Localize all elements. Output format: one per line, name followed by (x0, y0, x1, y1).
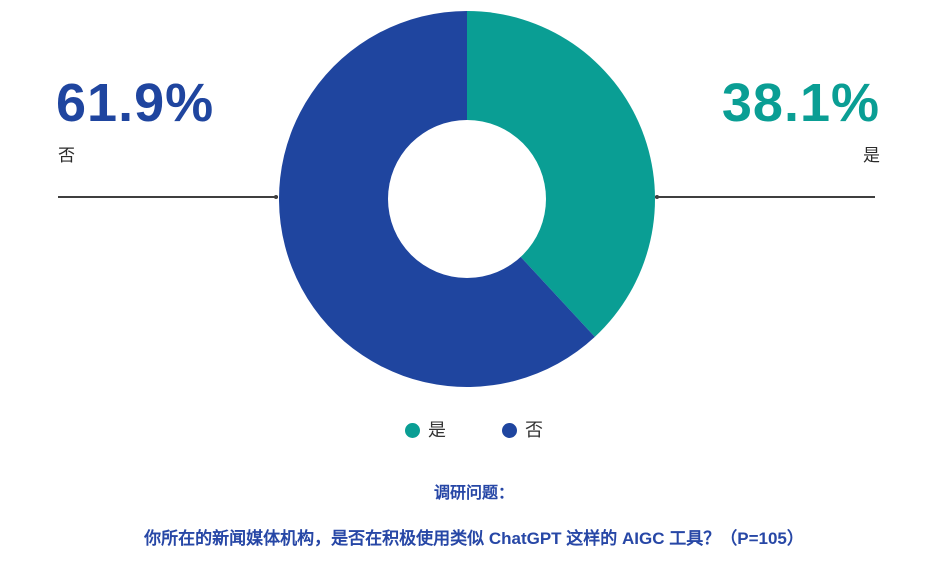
donut-hole (388, 120, 546, 278)
legend-label-yes: 是 (428, 420, 446, 440)
caption-question-text: 你所在的新闻媒体机构，是否在积极使用类似 ChatGPT 这样的 AIGC 工具… (0, 526, 948, 552)
leader-tip-right (655, 195, 659, 199)
callout-yes: 38.1% 是 (552, 72, 880, 168)
donut-svg (279, 11, 655, 387)
chart-caption: 调研问题： 你所在的新闻媒体机构，是否在积极使用类似 ChatGPT 这样的 A… (0, 482, 948, 552)
legend-dot-yes-icon (405, 423, 420, 438)
donut-chart (279, 11, 655, 387)
leader-tip-left (274, 195, 278, 199)
callout-no: 61.9% 否 (48, 72, 378, 168)
caption-lead-text: 调研问题： (0, 482, 948, 506)
leader-line-left (58, 196, 278, 198)
callout-yes-value: 38.1% (552, 72, 880, 134)
leader-line-right (655, 196, 875, 198)
legend-item-yes[interactable]: 是 (405, 420, 446, 440)
donut-chart-figure: 61.9% 否 38.1% 是 是 否 调研问题： 你所在的新闻媒体机构，是否在… (0, 0, 948, 574)
legend-label-no: 否 (525, 420, 543, 440)
legend-dot-no-icon (502, 423, 517, 438)
legend-item-no[interactable]: 否 (502, 420, 543, 440)
callout-no-value: 61.9% (48, 72, 378, 134)
callout-no-label: 否 (48, 144, 378, 168)
callout-yes-label: 是 (552, 144, 880, 168)
chart-legend: 是 否 (0, 420, 948, 440)
